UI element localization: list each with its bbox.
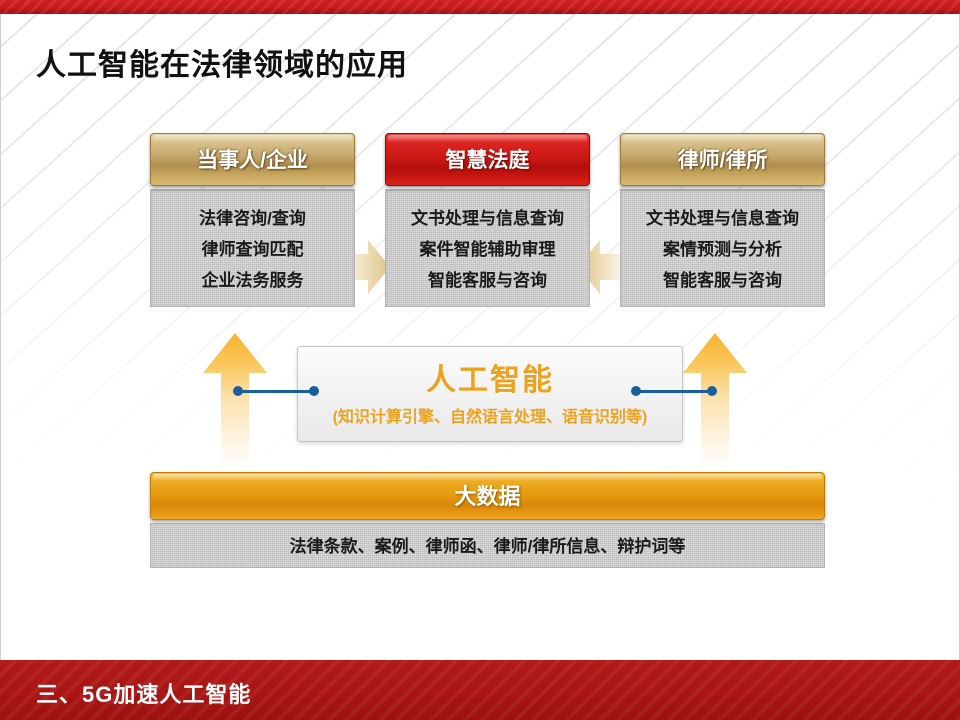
pillar-line: 文书处理与信息查询	[621, 203, 824, 234]
pillar-body-lawyer-firm: 文书处理与信息查询 案情预测与分析 智能客服与咨询	[620, 189, 825, 307]
slide-canvas: 人工智能在法律领域的应用 当事人/企业 法律咨询/查询 律师查询匹配 企业法务服…	[0, 0, 960, 720]
footer-section-title: 三、5G加速人工智能	[36, 677, 251, 709]
arrow-up-icon	[683, 333, 747, 466]
pillar-line: 企业法务服务	[151, 265, 354, 296]
pillar-header-lawyer-firm: 律师/律所	[620, 133, 825, 186]
ai-layer-subtitle: (知识计算引擎、自然语言处理、语音识别等)	[298, 403, 682, 427]
bigdata-header: 大数据	[150, 472, 825, 520]
arrow-up-icon	[203, 333, 267, 466]
connector-line	[238, 390, 314, 393]
pillar-header-party-enterprise: 当事人/企业	[150, 133, 355, 186]
pillar-line: 智能客服与咨询	[621, 265, 824, 296]
pillar-party-enterprise[interactable]: 当事人/企业 法律咨询/查询 律师查询匹配 企业法务服务	[150, 133, 355, 307]
ai-layer-box[interactable]: 人工智能 (知识计算引擎、自然语言处理、语音识别等)	[297, 346, 683, 442]
connector-right	[631, 386, 717, 396]
page-title: 人工智能在法律领域的应用	[36, 40, 408, 84]
pillar-body-party-enterprise: 法律咨询/查询 律师查询匹配 企业法务服务	[150, 189, 355, 307]
pillar-smart-court[interactable]: 智慧法庭 文书处理与信息查询 案件智能辅助审理 智能客服与咨询	[385, 133, 590, 307]
connector-dot-icon	[309, 386, 319, 396]
pillar-line: 案件智能辅助审理	[386, 234, 589, 265]
footer-bar: 三、5G加速人工智能	[0, 660, 960, 720]
connector-dot-icon	[707, 386, 717, 396]
ai-layer-title: 人工智能	[298, 355, 682, 399]
connector-left	[233, 386, 319, 396]
pillar-line: 智能客服与咨询	[386, 265, 589, 296]
pillar-header-smart-court: 智慧法庭	[385, 133, 590, 186]
pillar-line: 案情预测与分析	[621, 234, 824, 265]
pillar-line: 文书处理与信息查询	[386, 203, 589, 234]
pillar-lawyer-firm[interactable]: 律师/律所 文书处理与信息查询 案情预测与分析 智能客服与咨询	[620, 133, 825, 307]
pillar-line: 律师查询匹配	[151, 234, 354, 265]
bigdata-body: 法律条款、案例、律师函、律师/律所信息、辩护词等	[150, 523, 825, 568]
connector-line	[636, 390, 712, 393]
pillar-body-smart-court: 文书处理与信息查询 案件智能辅助审理 智能客服与咨询	[385, 189, 590, 307]
top-bar-stripe-pattern	[0, 0, 960, 14]
pillar-line: 法律咨询/查询	[151, 203, 354, 234]
bigdata-layer-box[interactable]: 大数据 法律条款、案例、律师函、律师/律所信息、辩护词等	[150, 472, 825, 568]
top-accent-bar	[0, 0, 960, 14]
